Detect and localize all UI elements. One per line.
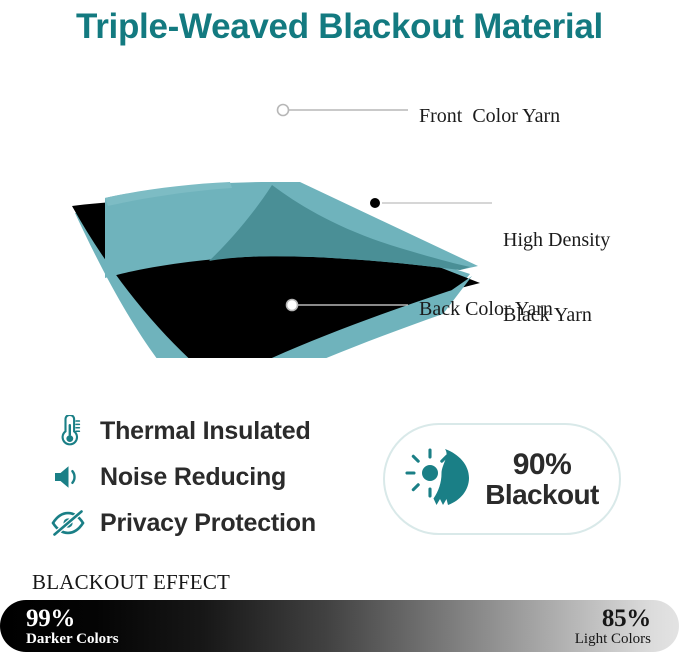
thermometer-icon bbox=[48, 412, 88, 450]
sun-blocked-icon bbox=[405, 446, 479, 512]
light-colors-label: Light Colors bbox=[575, 632, 651, 647]
darker-colors-percent: 99% bbox=[26, 606, 119, 632]
blackout-effect-heading: BLACKOUT EFFECT bbox=[32, 570, 230, 595]
feature-item-thermal-insulated: Thermal Insulated bbox=[48, 408, 368, 454]
blackout-effect-light-colors: 85% Light Colors bbox=[575, 606, 651, 647]
callout-dot-black bbox=[369, 197, 381, 209]
feature-label: Noise Reducing bbox=[100, 463, 286, 492]
callout-label-back-color-yarn: Back Color Yarn bbox=[419, 297, 553, 322]
eye-slash-icon bbox=[48, 504, 88, 542]
badge-word: Blackout bbox=[485, 480, 598, 509]
light-colors-percent: 85% bbox=[575, 606, 651, 632]
callout-leader-front bbox=[278, 105, 409, 116]
callout-dot-back bbox=[287, 300, 298, 311]
speaker-sound-icon bbox=[48, 458, 88, 496]
callout-dot-front bbox=[278, 105, 289, 116]
blackout-percentage-badge: 90% Blackout bbox=[383, 423, 621, 535]
badge-text: 90% Blackout bbox=[485, 449, 598, 509]
callout-leader-black bbox=[369, 197, 492, 209]
feature-item-noise-reducing: Noise Reducing bbox=[48, 454, 368, 500]
badge-percent: 90% bbox=[485, 449, 598, 480]
blackout-effect-gradient-bar: 99% Darker Colors 85% Light Colors bbox=[0, 600, 679, 652]
page-title: Triple-Weaved Blackout Material bbox=[0, 0, 679, 50]
callout-label-line-1: High Density bbox=[503, 228, 610, 253]
callout-label-high-density-black-yarn: High Density Black Yarn bbox=[503, 178, 610, 353]
feature-list: Thermal Insulated Noise Reducing Privacy… bbox=[48, 408, 368, 546]
darker-colors-label: Darker Colors bbox=[26, 632, 119, 647]
feature-item-privacy-protection: Privacy Protection bbox=[48, 500, 368, 546]
blackout-effect-darker-colors: 99% Darker Colors bbox=[26, 606, 119, 647]
callout-label-front-color-yarn: Front Color Yarn bbox=[419, 104, 560, 129]
feature-label: Privacy Protection bbox=[100, 509, 316, 538]
feature-label: Thermal Insulated bbox=[100, 417, 311, 446]
